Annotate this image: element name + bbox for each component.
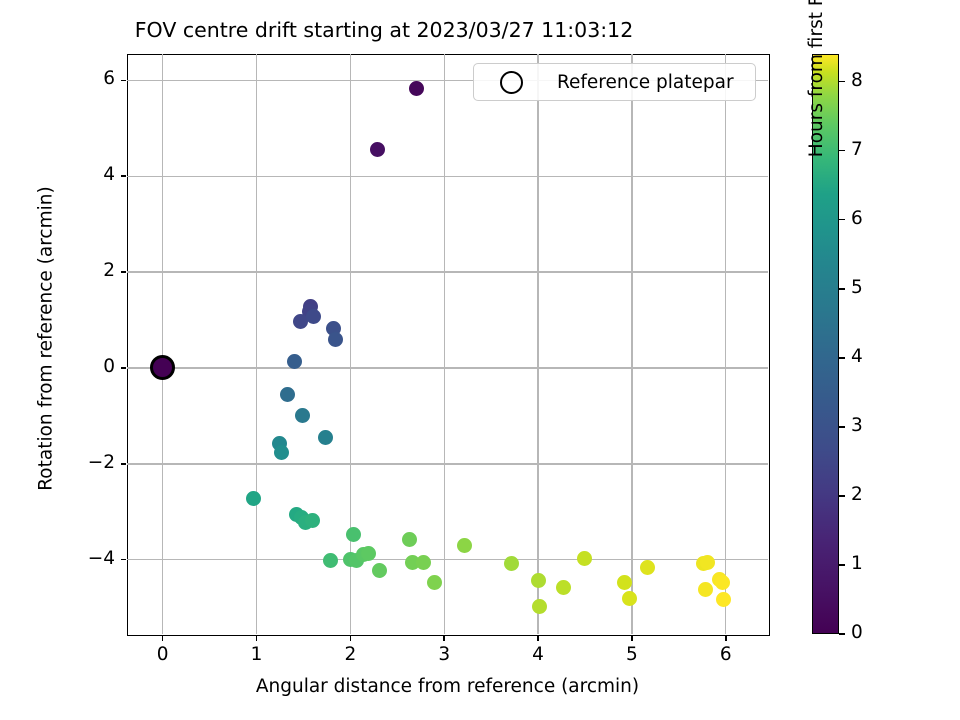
plot-area [127, 54, 770, 636]
data-point [409, 81, 424, 96]
legend: Reference platepar [473, 63, 756, 101]
colorbar-tick-label: 3 [851, 415, 863, 436]
grid-line-horizontal [127, 271, 768, 272]
x-tick-mark [162, 636, 164, 641]
y-tick-label: 6 [55, 68, 115, 89]
x-tick-label: 0 [133, 644, 193, 665]
colorbar-tick-label: 5 [851, 277, 863, 298]
data-point [700, 555, 715, 570]
colorbar-tick-label: 7 [851, 139, 863, 160]
x-tick-mark [256, 636, 258, 641]
grid-line-horizontal [127, 176, 768, 177]
y-tick-label: 0 [55, 356, 115, 377]
data-point [622, 591, 637, 606]
data-point [556, 580, 571, 595]
colorbar-tick-mark [839, 219, 845, 221]
grid-line-vertical [444, 54, 445, 634]
colorbar-tick-mark [839, 150, 845, 152]
colorbar-tick-mark [839, 357, 845, 359]
colorbar-tick-mark [839, 633, 845, 635]
colorbar-tick-label: 6 [851, 208, 863, 229]
scatter-plot-figure: FOV centre drift starting at 2023/03/27 … [0, 0, 960, 720]
y-tick-label: −2 [55, 452, 115, 473]
x-tick-label: 4 [508, 644, 568, 665]
data-point [577, 551, 592, 566]
colorbar-tick-label: 8 [851, 70, 863, 91]
y-tick-mark [121, 559, 126, 561]
grid-line-vertical [537, 54, 538, 634]
grid-line-horizontal [127, 559, 768, 560]
grid-line-vertical [162, 54, 163, 634]
legend-circle-icon [500, 71, 523, 94]
colorbar-tick-label: 4 [851, 346, 863, 367]
grid-line-vertical [725, 54, 726, 634]
colorbar-tick-mark [839, 288, 845, 290]
x-tick-mark [537, 636, 539, 641]
data-point [698, 582, 713, 597]
y-tick-label: 2 [55, 260, 115, 281]
grid-line-horizontal [127, 367, 768, 368]
x-axis-label: Angular distance from reference (arcmin) [127, 676, 768, 697]
grid-line-vertical [256, 54, 257, 634]
y-tick-mark [121, 271, 126, 273]
x-tick-label: 1 [227, 644, 287, 665]
legend-label: Reference platepar [557, 72, 734, 93]
page-title: FOV centre drift starting at 2023/03/27 … [0, 18, 768, 42]
y-tick-label: 4 [55, 164, 115, 185]
y-tick-mark [121, 463, 126, 465]
grid-line-vertical [350, 54, 351, 634]
data-point [318, 430, 333, 445]
y-tick-mark [121, 80, 126, 82]
colorbar-tick-label: 1 [851, 553, 863, 574]
y-tick-label: −4 [55, 548, 115, 569]
colorbar-tick-label: 0 [851, 622, 863, 643]
data-point [504, 556, 519, 571]
data-point [532, 599, 547, 614]
colorbar-tick-label: 2 [851, 484, 863, 505]
colorbar-tick-mark [839, 564, 845, 566]
x-tick-label: 2 [320, 644, 380, 665]
x-tick-label: 3 [414, 644, 474, 665]
x-tick-mark [350, 636, 352, 641]
data-point [346, 527, 361, 542]
grid-line-vertical [631, 54, 632, 634]
x-tick-label: 6 [696, 644, 756, 665]
x-tick-mark [725, 636, 727, 641]
y-tick-mark [121, 175, 126, 177]
y-axis-label: Rotation from reference (arcmin) [36, 29, 57, 649]
data-point [531, 573, 546, 588]
x-tick-label: 5 [602, 644, 662, 665]
data-point [402, 532, 417, 547]
x-tick-mark [631, 636, 633, 641]
colorbar-tick-mark [839, 81, 845, 83]
data-point [328, 332, 343, 347]
grid-line-horizontal [127, 463, 768, 464]
colorbar-tick-mark [839, 426, 845, 428]
colorbar-tick-mark [839, 495, 845, 497]
y-tick-mark [121, 367, 126, 369]
colorbar-label: Hours from first FF file [806, 0, 827, 344]
x-tick-mark [443, 636, 445, 641]
